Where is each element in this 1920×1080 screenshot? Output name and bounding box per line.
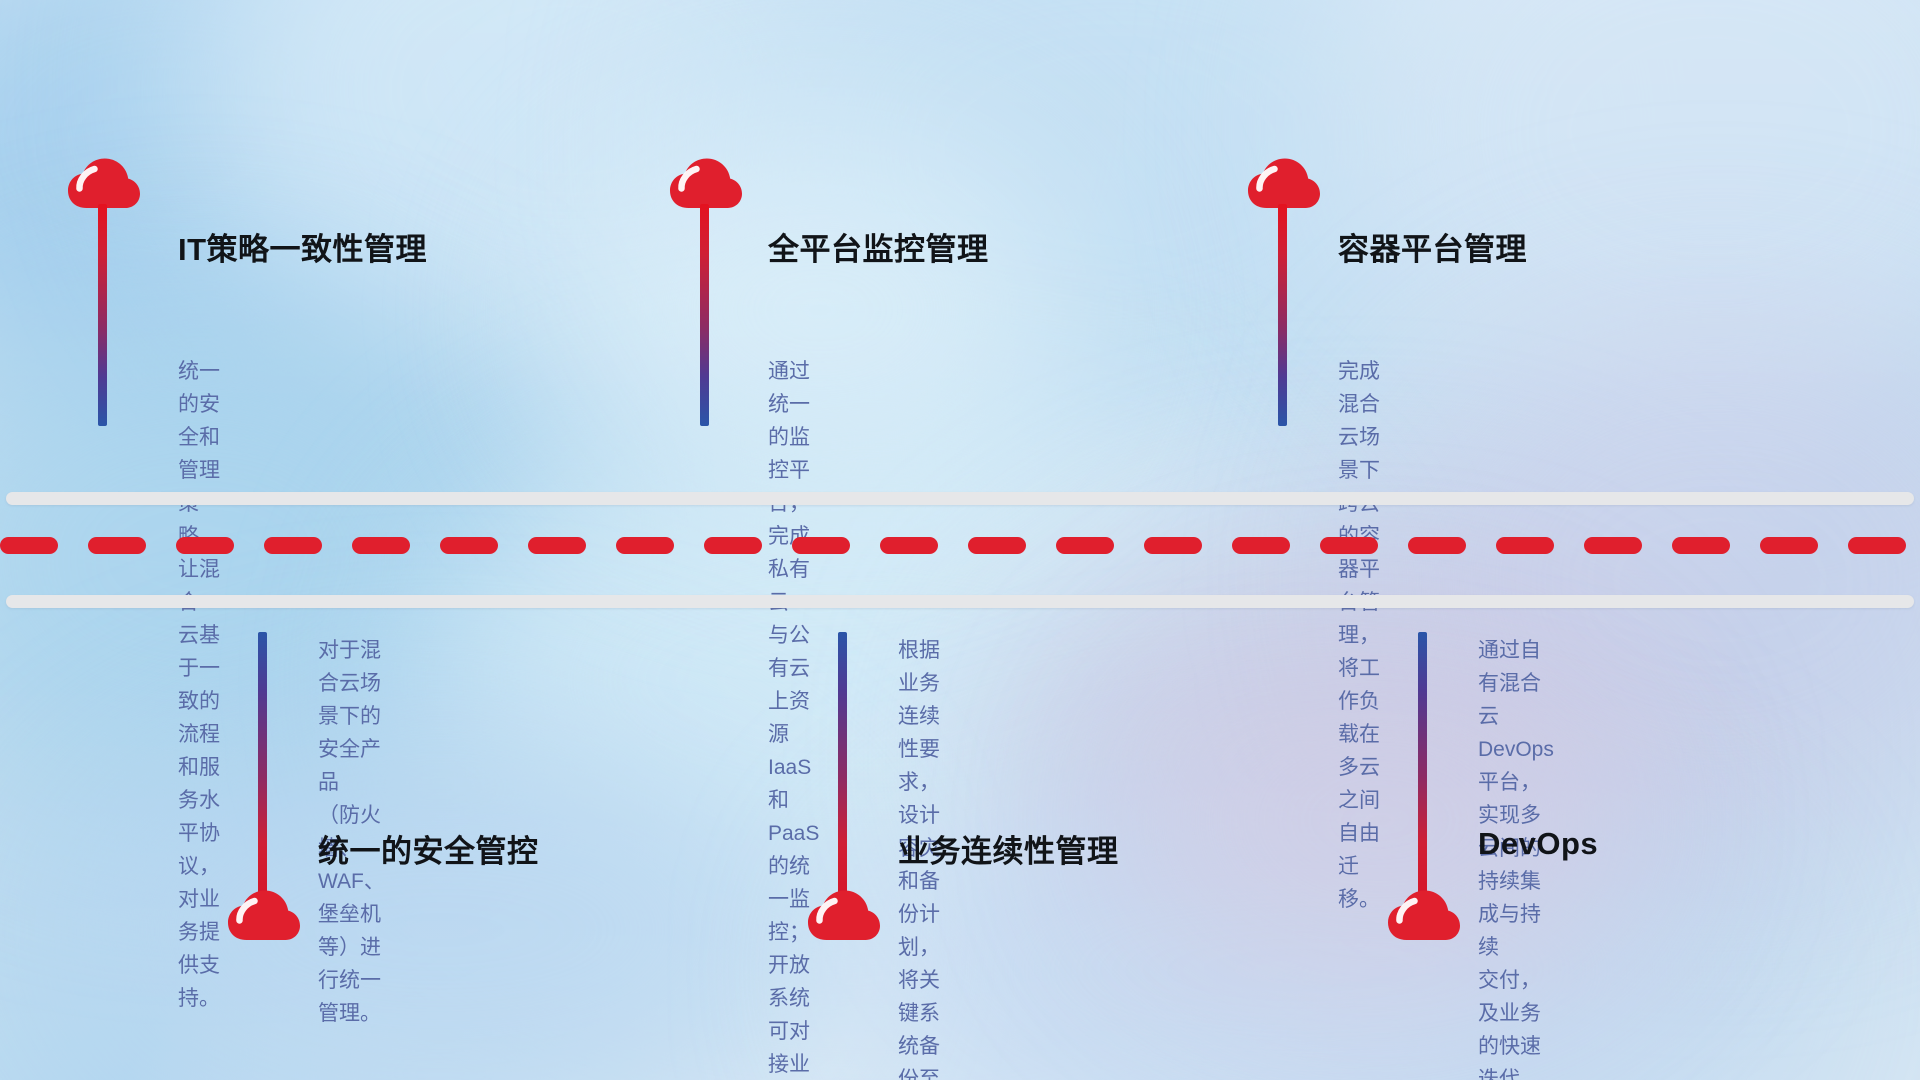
cloud-icon — [66, 158, 142, 210]
cloud-icon — [226, 890, 302, 942]
card-title: DevOps — [1478, 826, 1598, 862]
card-title: IT策略一致性管理 — [178, 224, 427, 269]
road-dash — [1056, 537, 1114, 554]
road-dash — [880, 537, 938, 554]
card-title: 业务连续性管理 — [898, 826, 1119, 871]
road-dash — [352, 537, 410, 554]
road-dash — [1320, 537, 1378, 554]
road-dash — [528, 537, 586, 554]
road-dash — [1848, 537, 1906, 554]
road-dash — [1760, 537, 1818, 554]
card-title: 全平台监控管理 — [768, 224, 989, 269]
road-dash — [1232, 537, 1290, 554]
road-dash — [1584, 537, 1642, 554]
card-title: 容器平台管理 — [1338, 224, 1527, 269]
road-dash — [704, 537, 762, 554]
cloud-icon — [806, 890, 882, 942]
road-dash — [616, 537, 674, 554]
road-line-bottom — [6, 595, 1914, 608]
pin-stem — [258, 632, 267, 897]
card-description: 统一的安全和管理策略，让混合 云基于一致的流程和服务水平协 议，对业务提供支持。 — [178, 355, 220, 1015]
road-dash — [88, 537, 146, 554]
road-dash — [1408, 537, 1466, 554]
road-dash — [1144, 537, 1202, 554]
card-description: 完成混合云场景下跨云的容器平 台管理，将工作负载在多云之间 自由迁移。 — [1338, 355, 1380, 916]
cloud-icon — [1386, 890, 1462, 942]
cloud-icon — [1246, 158, 1322, 210]
road-dash — [792, 537, 850, 554]
cloud-icon — [668, 158, 744, 210]
pin-stem — [98, 204, 107, 426]
pin-stem — [700, 204, 709, 426]
road-dash — [0, 537, 58, 554]
road-dash — [1672, 537, 1730, 554]
road-dash — [1496, 537, 1554, 554]
road-dash — [968, 537, 1026, 554]
card-description: 通过统一的监控平台，完成私有云 与公有云上资源IaaS和PaaS的统 一监控；开… — [768, 355, 819, 1080]
pin-stem — [1418, 632, 1427, 897]
road-dash — [440, 537, 498, 554]
road-dash-row — [0, 537, 1920, 554]
pin-stem — [1278, 204, 1287, 426]
infographic-canvas: IT策略一致性管理 统一的安全和管理策略，让混合 云基于一致的流程和服务水平协 … — [0, 0, 1920, 1080]
road-dash — [264, 537, 322, 554]
road-line-top — [6, 492, 1914, 505]
road-dash — [176, 537, 234, 554]
card-title: 统一的安全管控 — [318, 826, 539, 871]
pin-stem — [838, 632, 847, 897]
